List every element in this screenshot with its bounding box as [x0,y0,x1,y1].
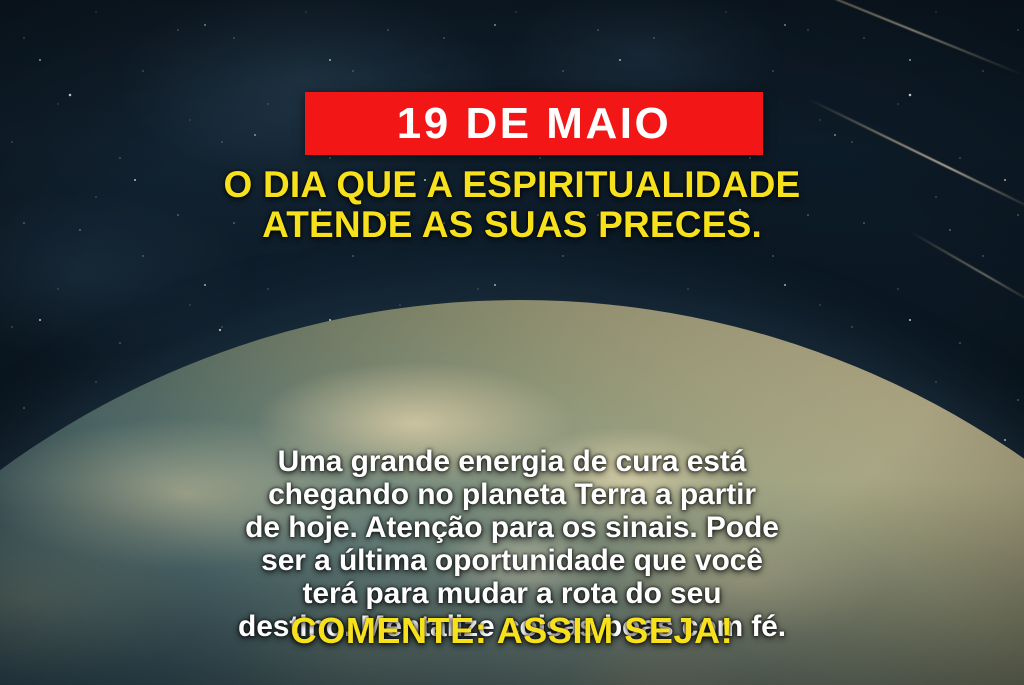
headline-line-2: ATENDE AS SUAS PRECES. [0,205,1024,245]
headline-line-1: O DIA QUE A ESPIRITUALIDADE [0,165,1024,205]
poster-content: 19 DE MAIO O DIA QUE A ESPIRITUALIDADE A… [0,0,1024,685]
body-line-4: ser a última oportunidade que você [50,544,974,577]
poster-canvas: 19 DE MAIO O DIA QUE A ESPIRITUALIDADE A… [0,0,1024,685]
body-line-1: Uma grande energia de cura está [50,445,974,478]
body-line-5: terá para mudar a rota do seu [50,577,974,610]
date-badge-label: 19 DE MAIO [397,102,671,146]
body-line-2: chegando no planeta Terra a partir [50,478,974,511]
headline: O DIA QUE A ESPIRITUALIDADE ATENDE AS SU… [0,165,1024,245]
body-line-3: de hoje. Atenção para os sinais. Pode [50,511,974,544]
call-to-action-text: COMENTE: ASSIM SEJA! [0,612,1024,650]
date-badge: 19 DE MAIO [305,92,763,155]
